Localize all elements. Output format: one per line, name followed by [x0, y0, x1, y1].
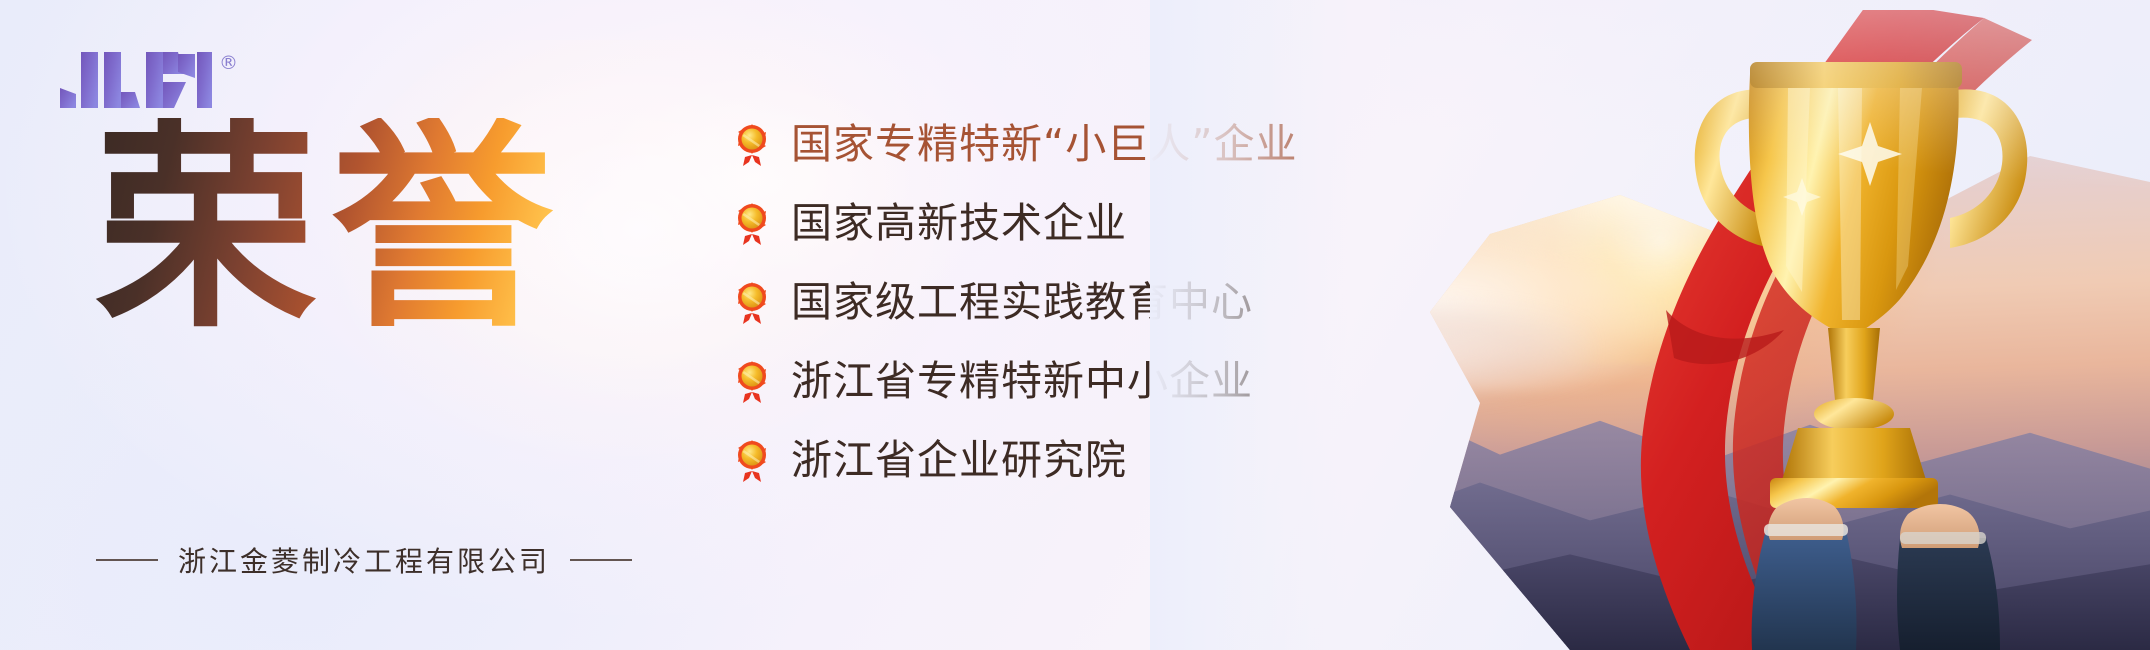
registered-trademark-mark: ® — [219, 54, 238, 73]
raised-hands-icon — [1570, 10, 2090, 650]
award-rosette-medal-icon — [735, 440, 769, 482]
rule-left — [96, 559, 158, 561]
award-label: 浙江省企业研究院 — [791, 440, 1127, 481]
award-rosette-medal-icon — [735, 282, 769, 324]
page-title: 荣誉 — [95, 118, 567, 340]
company-name-line: 浙江金菱制冷工程有限公司 — [96, 540, 632, 580]
company-name: 浙江金菱制冷工程有限公司 — [178, 540, 550, 580]
trophy-artwork — [1150, 0, 2150, 650]
award-rosette-medal-icon — [735, 203, 769, 245]
award-label: 国家高新技术企业 — [791, 203, 1127, 244]
award-rosette-medal-icon — [735, 361, 769, 403]
photo-left-fade — [1150, 0, 1348, 650]
trophy-group — [1570, 10, 2090, 650]
award-rosette-medal-icon — [735, 124, 769, 166]
honor-banner: ® 荣誉 浙江金菱制冷工程有限公司 — [0, 0, 2150, 650]
rule-right — [570, 559, 632, 561]
